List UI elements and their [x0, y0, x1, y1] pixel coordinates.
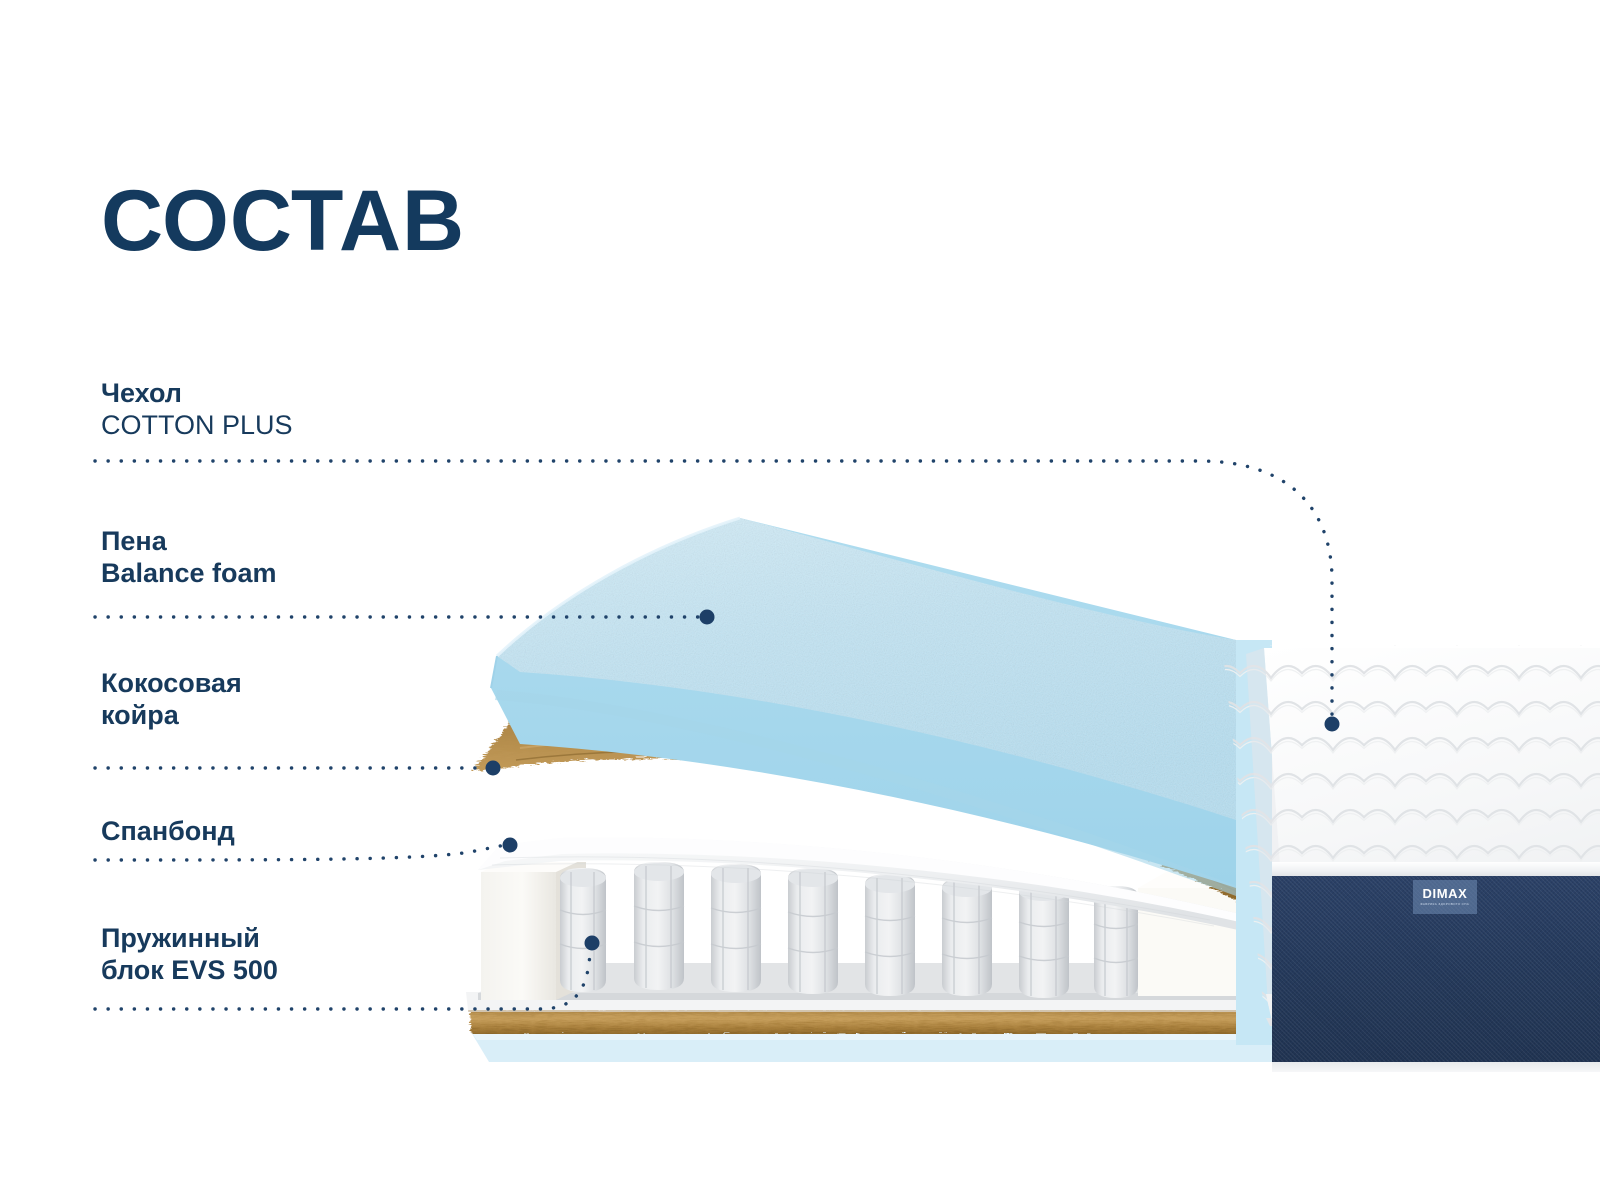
leader-dot-cover — [1325, 717, 1340, 732]
leader-dot-springblock — [585, 936, 600, 951]
leader-endpoints — [486, 610, 1340, 951]
layer-label-foam: Пена Balance foam — [101, 526, 277, 590]
leader-dot-foam — [700, 610, 715, 625]
leader-dot-coir — [486, 761, 501, 776]
layer-label-coir: Кокосовая койра — [101, 668, 242, 732]
layer-label-spunbond-line1: Спанбонд — [101, 816, 235, 848]
leader-dot-spunbond — [503, 838, 518, 853]
layer-label-springblock-line1: Пружинный — [101, 923, 278, 955]
leader-line-cover — [95, 461, 1332, 716]
layer-label-cover-line1: Чехол — [101, 378, 293, 410]
layer-label-spunbond: Спанбонд — [101, 816, 235, 848]
composition-infographic: DIMAX ФАБРИКА ЗДОРОВОГО СНА СОС — [0, 0, 1600, 1200]
page-title: СОСТАВ — [101, 178, 465, 264]
layer-label-springblock-line2: блок EVS 500 — [101, 955, 278, 987]
layer-label-coir-line1: Кокосовая — [101, 668, 242, 700]
layer-label-springblock: Пружинный блок EVS 500 — [101, 923, 278, 987]
layer-label-cover: Чехол COTTON PLUS — [101, 378, 293, 442]
layer-label-coir-line2: койра — [101, 700, 242, 732]
layer-label-cover-line2: COTTON PLUS — [101, 410, 293, 442]
layer-label-foam-line2: Balance foam — [101, 558, 277, 590]
layer-label-foam-line1: Пена — [101, 526, 277, 558]
